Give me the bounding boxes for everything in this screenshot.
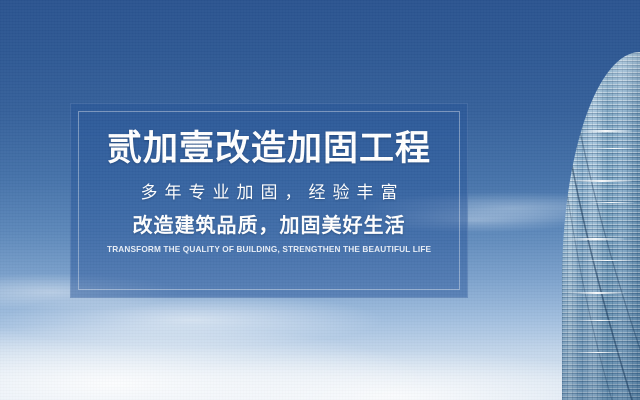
hero-tagline: 改造建筑品质，加固美好生活 [133,216,406,236]
glass-glint-icon [570,292,624,294]
tower-glass-facade [562,52,640,400]
glass-glint-icon [580,130,632,132]
skyscraper-image [548,52,640,400]
hero-copy: 贰加壹改造加固工程 多年专业加固，经验丰富 改造建筑品质，加固美好生活 TRAN… [70,103,468,298]
hero-banner: 贰加壹改造加固工程 多年专业加固，经验丰富 改造建筑品质，加固美好生活 TRAN… [0,0,640,400]
glass-glint-icon [566,238,624,240]
glass-glint-icon [582,260,632,261]
glass-glint-icon [588,202,634,203]
hero-subtitle: 多年专业加固，经验丰富 [134,184,405,201]
hero-title: 贰加壹改造加固工程 [107,131,431,166]
skyscraper-body [548,52,640,400]
glass-glint-icon [574,352,622,353]
glass-glint-icon [572,180,632,182]
glass-glint-icon [578,320,622,321]
tower-shading [562,52,640,400]
glass-glint-icon [594,148,634,149]
hero-english-tagline: TRANSFORM THE QUALITY OF BUILDING, STREN… [107,245,431,254]
